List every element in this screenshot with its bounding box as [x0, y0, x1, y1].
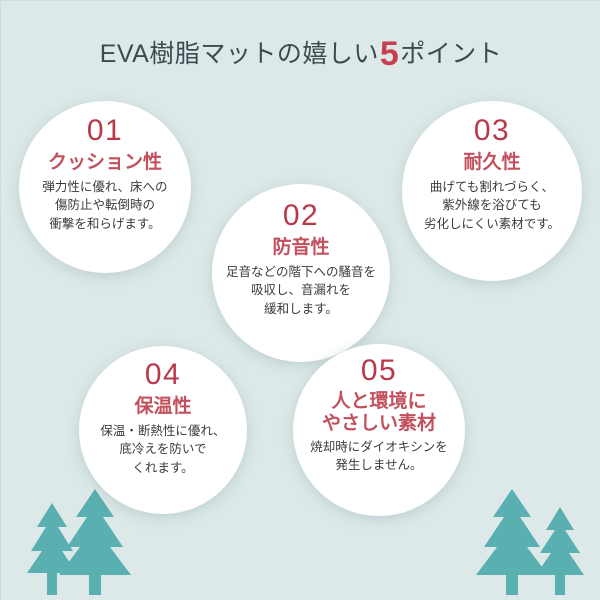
point-circle-04: 04 保温性 保温・断熱性に優れ、 底冷えを防いで くれます。	[79, 346, 247, 514]
point-heading: 耐久性	[463, 152, 520, 174]
point-body: 焼却時にダイオキシンを 発生しません。	[310, 438, 448, 475]
point-number: 01	[87, 115, 123, 147]
pine-tree-icon	[27, 503, 77, 595]
point-body: 足音などの階下への騒音を 吸収し、音漏れを 緩和します。	[226, 263, 376, 319]
point-body: 弾力性に優れ、床への 傷防止や転倒時の 衝撃を和らげます。	[42, 178, 167, 234]
point-body: 曲げても割れづらく、 紫外線を浴びても 劣化しにくい素材です。	[424, 178, 560, 234]
point-circle-03: 03 耐久性 曲げても割れづらく、 紫外線を浴びても 劣化しにくい素材です。	[402, 101, 582, 281]
pine-tree-icon	[476, 489, 548, 595]
point-heading: 防音性	[272, 237, 329, 259]
decorative-trees-right	[472, 485, 590, 600]
point-circle-02: 02 防音性 足音などの階下への騒音を 吸収し、音漏れを 緩和します。	[212, 184, 390, 362]
page-title-after: ポイント	[400, 40, 502, 68]
point-circle-05: 05 人と環境に やさしい素材 焼却時にダイオキシンを 発生しません。	[293, 344, 465, 516]
point-body: 保温・断熱性に優れ、 底冷えを防いで くれます。	[100, 422, 225, 478]
point-heading: 保温性	[134, 396, 191, 418]
page-title-before: EVA樹脂マットの嬉しい	[100, 40, 379, 68]
pine-tree-icon	[536, 507, 584, 595]
page-title-accent-number: 5	[379, 35, 400, 73]
point-heading: クッション性	[48, 152, 162, 174]
point-circle-01: 01 クッション性 弾力性に優れ、床への 傷防止や転倒時の 衝撃を和らげます。	[19, 101, 191, 273]
point-heading: 人と環境に やさしい素材	[322, 391, 436, 435]
title-area: EVA樹脂マットの嬉しい5ポイント	[1, 37, 600, 71]
point-number: 02	[283, 200, 319, 232]
pine-tree-icon	[59, 489, 131, 595]
point-number: 05	[361, 355, 397, 387]
point-number: 03	[474, 115, 510, 147]
infographic-canvas: EVA樹脂マットの嬉しい5ポイント	[0, 0, 600, 600]
pine-tree-group-right-svg	[472, 485, 590, 595]
page-title: EVA樹脂マットの嬉しい5ポイント	[100, 37, 503, 71]
point-number: 04	[145, 359, 181, 391]
